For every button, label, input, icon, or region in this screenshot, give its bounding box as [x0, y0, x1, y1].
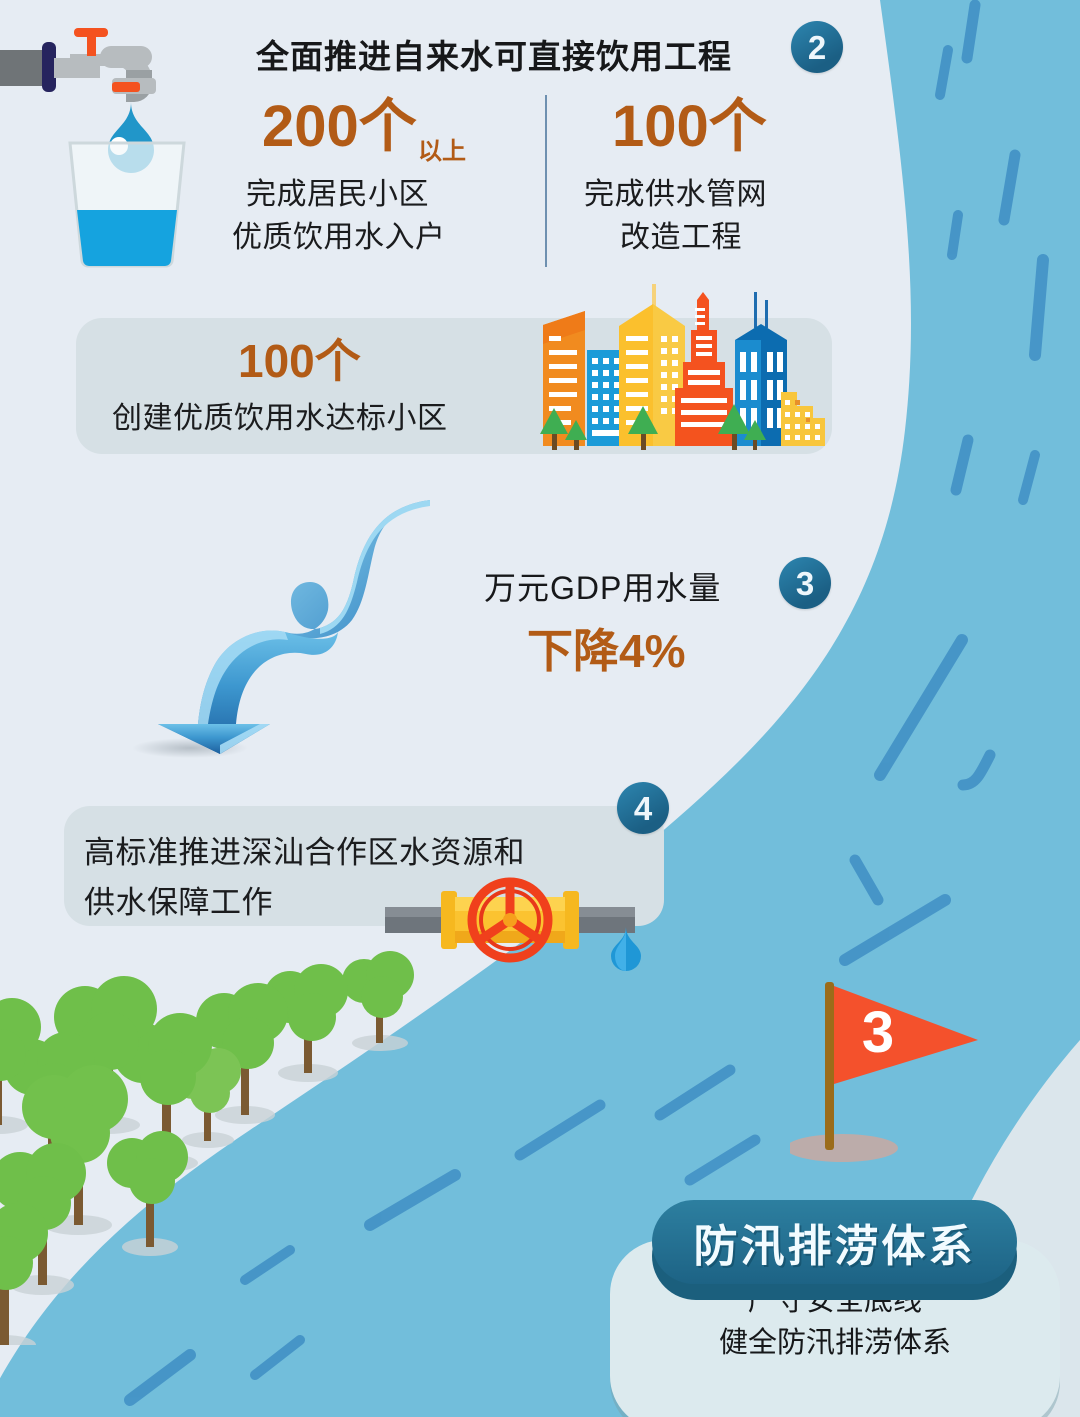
infographic-page: 全面推进自来水可直接饮用工程 2 200个 以上 完成居民小区 优质饮用水入户 …	[0, 0, 1080, 1417]
badge-3: 3	[779, 557, 831, 609]
stat1-line-1: 完成居民小区	[246, 176, 429, 214]
city-skyline-icon	[525, 278, 845, 460]
flood-banner: 防汛排涝体系	[652, 1200, 1017, 1284]
stats-divider	[545, 95, 547, 267]
card-line: 创建优质饮用水达标小区	[112, 400, 448, 438]
water-drop-icon	[609, 925, 643, 971]
badge-2: 2	[791, 21, 843, 73]
gdp-title: 万元GDP用水量	[484, 563, 721, 609]
stat2-line-2: 改造工程	[620, 219, 742, 257]
stat1-line-2: 优质饮用水入户	[232, 219, 446, 257]
stat2-line-1: 完成供水管网	[584, 176, 767, 214]
flag-number: 3	[862, 1000, 894, 1065]
flood-banner-title: 防汛排涝体系	[694, 1210, 976, 1274]
flag-icon: 3	[790, 968, 990, 1173]
shenshan-line-1: 高标准推进深汕合作区水资源和	[84, 833, 525, 873]
faucet-icon	[0, 14, 220, 276]
forest-trees-icon	[0, 925, 460, 1345]
badge-4: 4	[617, 782, 669, 834]
downward-curved-arrow-icon	[110, 492, 440, 762]
card-number: 100个	[238, 338, 361, 384]
gdp-value: 下降4%	[527, 628, 685, 674]
pipe-valve-icon	[385, 875, 635, 965]
flood-subtitle-2: 健全防汛排涝体系	[610, 1322, 1060, 1364]
section2-title: 全面推进自来水可直接饮用工程	[256, 30, 732, 78]
stat1-suffix: 以上	[418, 131, 466, 166]
shenshan-line-2: 供水保障工作	[84, 883, 273, 923]
stat1-number: 200个	[262, 98, 417, 156]
stat2-number: 100个	[612, 98, 767, 156]
